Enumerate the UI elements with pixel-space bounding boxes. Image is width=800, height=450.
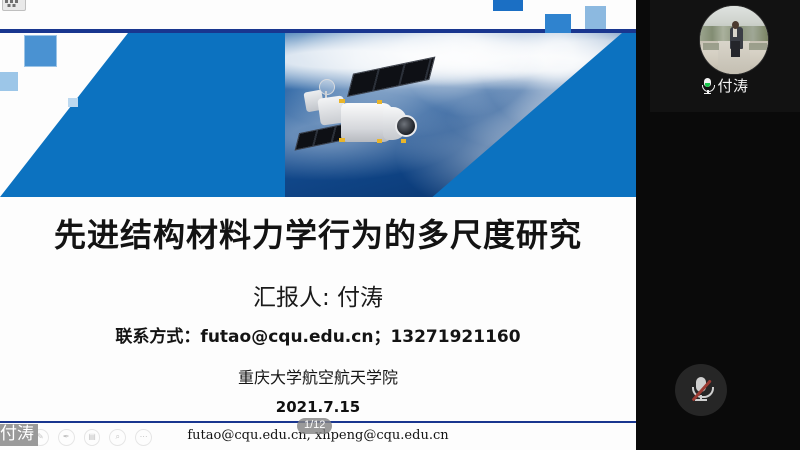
decorative-square — [493, 0, 523, 11]
page-indicator: 1/12 — [297, 418, 332, 434]
decorative-square — [68, 98, 78, 107]
slide-affiliation: 重庆大学航空航天学院 — [0, 364, 636, 388]
slide-thumbnails-icon[interactable]: ▤ — [84, 429, 101, 446]
window-corner-artifact — [2, 0, 26, 11]
microphone-on-icon — [701, 78, 714, 94]
slide-title: 先进结构材料力学行为的多尺度研究 — [0, 210, 636, 256]
module-fitting — [339, 138, 345, 142]
module-fitting — [377, 139, 382, 143]
pen-icon[interactable]: ✒ — [58, 429, 75, 446]
avatar — [700, 6, 768, 74]
decorative-square — [585, 6, 606, 29]
slide-presenter: 汇报人: 付涛 — [0, 278, 636, 312]
slide-contact: 联系方式：futao@cqu.edu.cn；13271921160 — [0, 322, 636, 347]
slide-date: 2021.7.15 — [0, 398, 636, 416]
space-station-illustration — [315, 67, 445, 177]
decorative-square — [0, 72, 18, 91]
participant-label: 付涛 — [662, 74, 788, 98]
screen: 先进结构材料力学行为的多尺度研究 汇报人: 付涛 联系方式：futao@cqu.… — [0, 0, 800, 450]
shared-slide[interactable]: 先进结构材料力学行为的多尺度研究 汇报人: 付涛 联系方式：futao@cqu.… — [0, 0, 636, 450]
module-fitting — [339, 99, 345, 103]
more-options-icon[interactable]: ⋯ — [135, 429, 152, 446]
participant-tile[interactable]: 付涛 — [650, 0, 800, 112]
presenter-toolbar[interactable]: ✎ ✒ ▤ ⌕ ⋯ — [32, 428, 152, 446]
microphone-muted-icon — [690, 376, 712, 404]
docking-port — [395, 115, 417, 137]
thumbnails-glyph: ▤ — [85, 430, 100, 445]
module-fitting — [401, 139, 406, 143]
zoom-glyph: ⌕ — [110, 430, 125, 445]
decorative-square — [545, 14, 571, 33]
slide-top-margin — [0, 0, 636, 29]
self-mute-button[interactable] — [675, 364, 727, 416]
laser-pointer-icon[interactable]: ✎ — [32, 429, 49, 446]
decorative-square — [24, 35, 57, 67]
pen-glyph: ✒ — [59, 430, 74, 445]
module-fitting — [377, 100, 382, 104]
more-glyph: ⋯ — [136, 430, 151, 445]
avatar-photo — [700, 6, 768, 74]
laser-pointer-glyph: ✎ — [33, 430, 48, 445]
slide-hero-banner — [0, 33, 636, 197]
zoom-in-icon[interactable]: ⌕ — [109, 429, 126, 446]
participant-name: 付涛 — [717, 79, 748, 94]
participants-rail: 付涛 — [636, 0, 800, 450]
